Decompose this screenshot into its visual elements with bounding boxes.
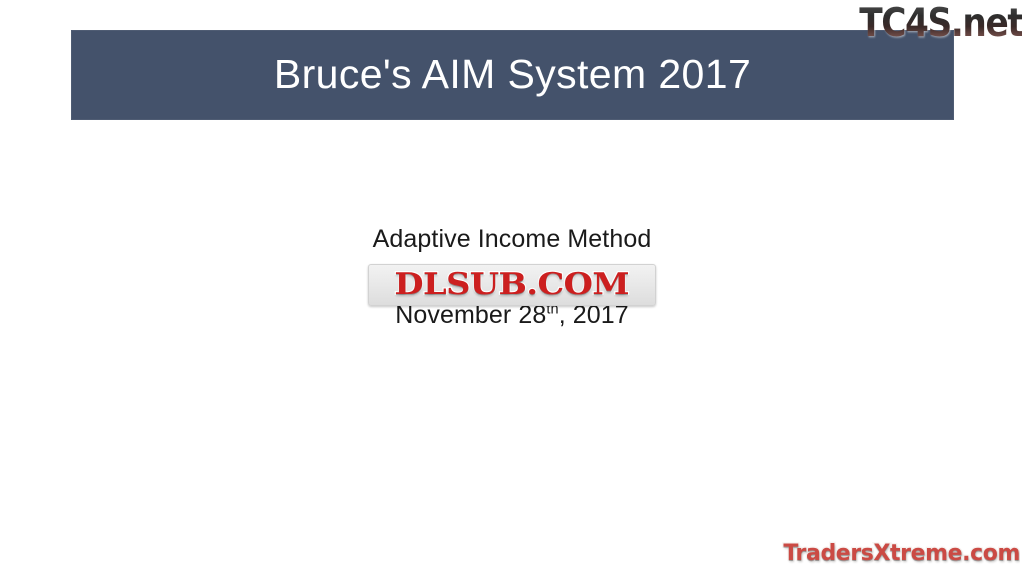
slide-title: Bruce's AIM System 2017 [274, 54, 751, 95]
slide-subtitle: Adaptive Income Method [0, 222, 1024, 256]
tc4s-watermark: TC4S.net [826, 2, 1022, 44]
tradersxtreme-watermark: TradersXtreme.com [760, 538, 1020, 570]
presentation-slide: Bruce's AIM System 2017 Adaptive Income … [0, 0, 1024, 576]
tradersxtreme-watermark-label: TradersXtreme.com [783, 543, 1020, 565]
dlsub-watermark-label: DLSUB.COM [395, 270, 630, 300]
tc4s-watermark-label: TC4S.net [859, 4, 1022, 43]
dlsub-watermark: DLSUB.COM [368, 264, 656, 306]
title-banner: Bruce's AIM System 2017 [71, 30, 954, 120]
